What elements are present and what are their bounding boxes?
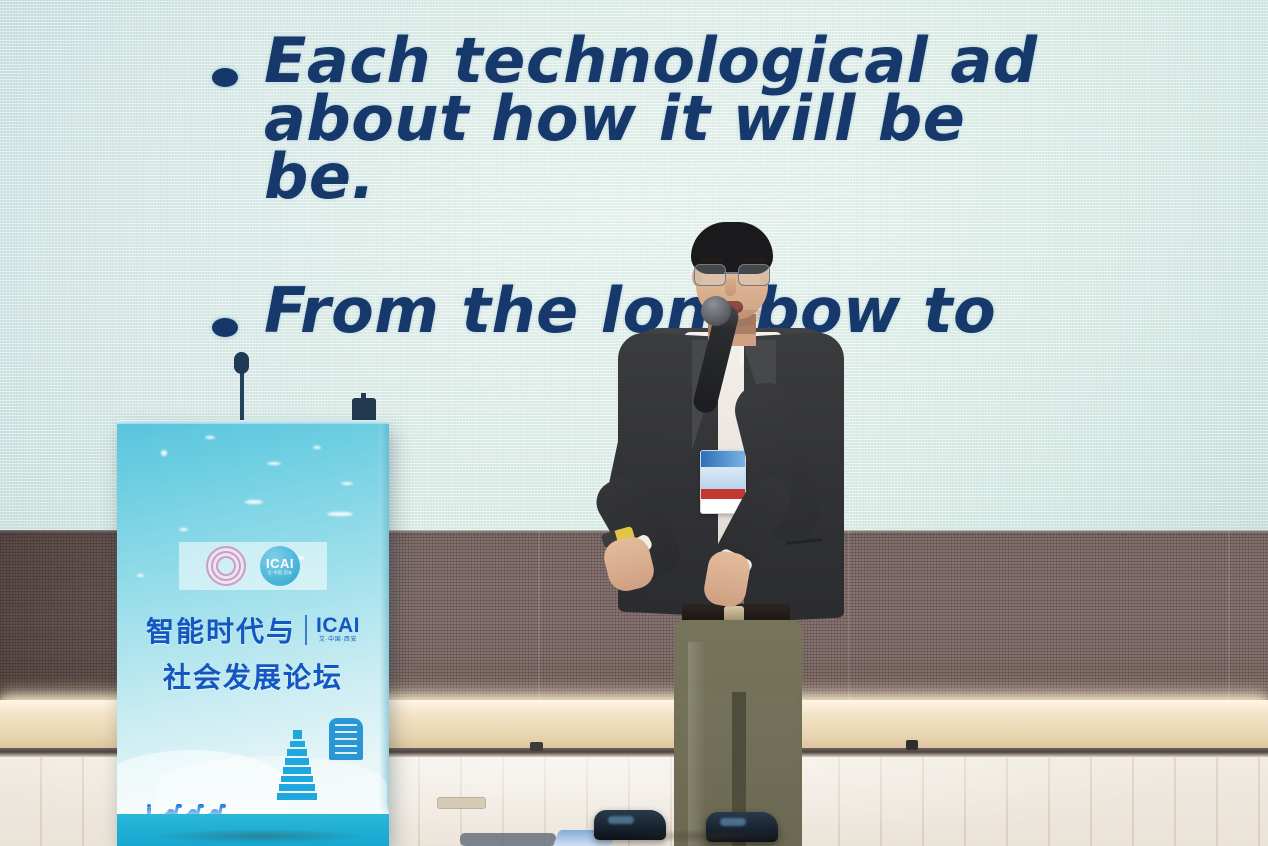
badge-body xyxy=(701,467,745,489)
wall-seam xyxy=(848,530,850,700)
bullet-1-line-2: about how it will be xyxy=(264,90,1038,148)
speaker-figure xyxy=(596,222,826,846)
trouser-highlight xyxy=(688,642,706,846)
podium-title-en: ICAI 艾·中国·西安 xyxy=(316,616,360,644)
floor-cable-cover xyxy=(460,833,556,846)
bullet-dot-icon xyxy=(212,68,238,87)
podium-title-row-2: 社会发展论坛 xyxy=(163,656,343,696)
podium-title-row-1: 智能时代与 ICAI 艾·中国·西安 xyxy=(146,610,360,650)
un-emblem-ring-icon xyxy=(206,546,246,586)
icai-logo-text: ICAI xyxy=(266,558,294,570)
nose xyxy=(725,278,736,296)
slide-bullet-1: Each technological ad about how it will … xyxy=(212,32,1038,206)
wall-seam xyxy=(538,530,540,700)
podium-title-block: 智能时代与 ICAI 艾·中国·西安 社会发展论坛 xyxy=(117,610,389,696)
podium-title-line-2: 社会发展论坛 xyxy=(163,656,343,696)
podium-reflection xyxy=(117,804,389,814)
bullet-dot-icon xyxy=(212,318,238,337)
speaker-floor-shadow xyxy=(592,826,830,846)
wall-seam xyxy=(1228,530,1230,700)
shoe-highlight xyxy=(608,816,634,824)
podium-title-line-1: 智能时代与 xyxy=(146,610,296,650)
bullet-1-line-3: be. xyxy=(264,148,1038,206)
podium-lectern: ICAI 艾·中国·西安 智能时代与 ICAI 艾·中国·西安 社会发展论坛 xyxy=(117,424,389,846)
gooseneck-microphone-head-icon xyxy=(234,352,249,374)
icai-logo-subtext: 艾·中国·西安 xyxy=(268,570,293,575)
glasses-bridge xyxy=(724,272,738,274)
shoe-highlight xyxy=(720,818,746,826)
title-divider xyxy=(305,615,307,645)
podium-title-en-sub: 艾·中国·西安 xyxy=(319,636,357,644)
podium-silkroad-graphic xyxy=(117,696,389,846)
xian-tower-icon xyxy=(329,718,363,760)
lens-left xyxy=(694,264,726,286)
floor-small-object xyxy=(906,740,918,750)
lens-right xyxy=(738,264,770,286)
pagoda-icon xyxy=(277,730,317,802)
badge-header xyxy=(701,451,745,467)
podium-logo-band: ICAI 艾·中国·西安 xyxy=(179,542,327,590)
podium-title-en-main: ICAI xyxy=(316,616,360,636)
floor-small-object xyxy=(530,742,543,751)
badge-role-band xyxy=(701,489,745,499)
icai-logo-icon: ICAI 艾·中国·西安 xyxy=(260,546,300,586)
podium-floor-shadow xyxy=(110,826,410,846)
floor-plate xyxy=(437,797,486,809)
slide-bullet-1-text: Each technological ad about how it will … xyxy=(264,32,1038,206)
stage-photo: Each technological ad about how it will … xyxy=(0,0,1268,846)
